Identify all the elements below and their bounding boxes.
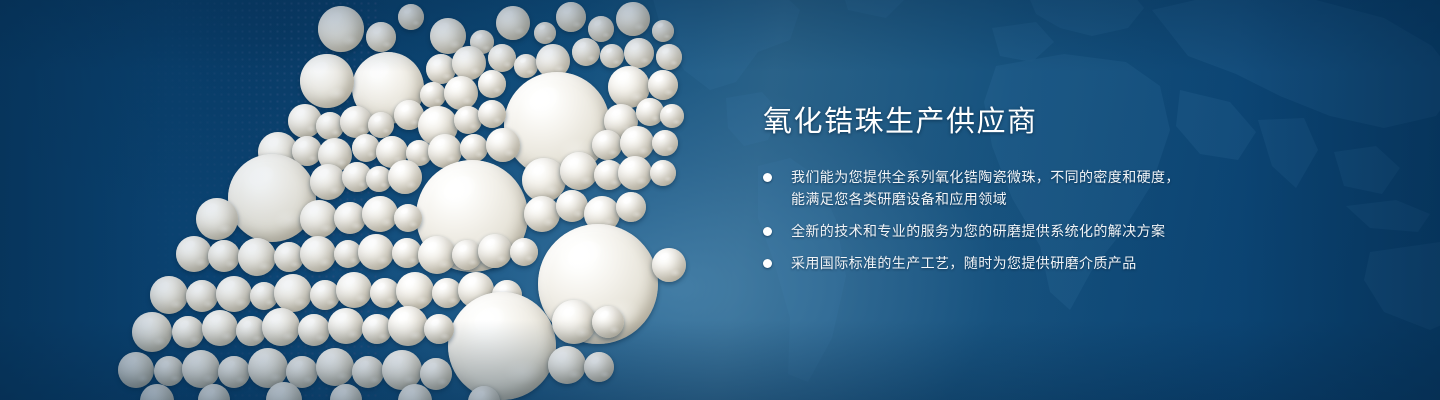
bullet-dot-icon	[763, 227, 772, 236]
promo-banner: 氧化锆珠生产供应商 我们能为您提供全系列氧化锆陶瓷微珠，不同的密度和硬度， 能满…	[0, 0, 1440, 400]
bullet-line: 采用国际标准的生产工艺，随时为您提供研磨介质产品	[791, 252, 1283, 274]
feature-bullet-list: 我们能为您提供全系列氧化锆陶瓷微珠，不同的密度和硬度， 能满足您各类研磨设备和应…	[763, 166, 1283, 274]
list-item: 我们能为您提供全系列氧化锆陶瓷微珠，不同的密度和硬度， 能满足您各类研磨设备和应…	[763, 166, 1283, 210]
bullet-line: 全新的技术和专业的服务为您的研磨提供系统化的解决方案	[791, 220, 1283, 242]
list-item: 全新的技术和专业的服务为您的研磨提供系统化的解决方案	[763, 220, 1283, 242]
banner-content: 氧化锆珠生产供应商 我们能为您提供全系列氧化锆陶瓷微珠，不同的密度和硬度， 能满…	[763, 104, 1283, 274]
bullet-line: 我们能为您提供全系列氧化锆陶瓷微珠，不同的密度和硬度，	[791, 166, 1283, 188]
bullet-dot-icon	[763, 173, 772, 182]
list-item: 采用国际标准的生产工艺，随时为您提供研磨介质产品	[763, 252, 1283, 274]
bullet-dot-icon	[763, 259, 772, 268]
bullet-line: 能满足您各类研磨设备和应用领域	[791, 188, 1283, 210]
banner-headline: 氧化锆珠生产供应商	[763, 104, 1283, 140]
